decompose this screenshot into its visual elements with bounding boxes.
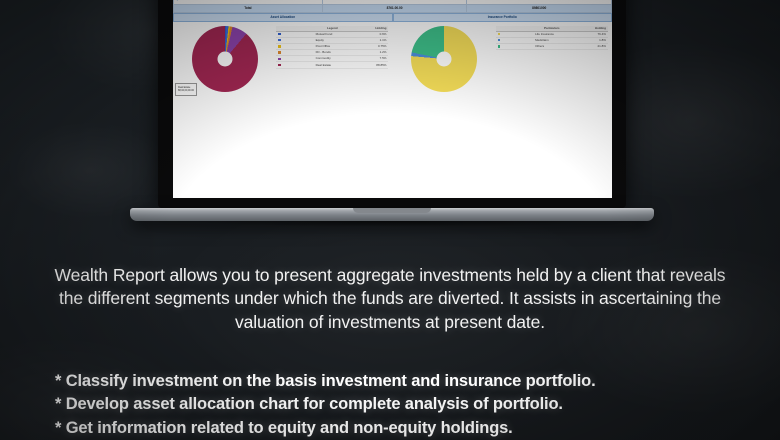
legend-value: 88.85% — [351, 62, 388, 68]
insurance-total-row: Total 8761.00.00 89801000 — [174, 4, 612, 13]
total-label: Total — [174, 4, 323, 13]
insurance-chart: Insurance Portfolio Particulars — [393, 13, 613, 91]
chart-legend-right: Particulars Holding Life Insurance76.4% … — [496, 26, 612, 51]
charts-section: Asset Allocation Real Estate 88,02,00,00… — [173, 13, 612, 91]
donut-chart-insurance[interactable] — [411, 26, 477, 92]
legend-label: Real Estate — [314, 62, 351, 68]
cell: 89801000 — [467, 4, 612, 13]
list-item: * Get information related to equity and … — [55, 417, 780, 440]
chart-tooltip: Real Estate 88,02,00,00.00 — [175, 83, 197, 95]
donut-wrap-right — [393, 26, 496, 92]
caption-text: Wealth Report allows you to present aggr… — [0, 264, 780, 334]
insurance-table: Particulars Sum Assured Premium / Year ▶… — [173, 0, 612, 13]
chart-title: Insurance Portfolio — [393, 13, 613, 21]
chart-legend-left: Legend Holding Mutual Fund0.6% Equity1.1… — [276, 26, 392, 69]
laptop-screen: ▶Equity 1780100 1412888 2386.80.00 4.89%… — [173, 0, 612, 198]
row-label: Others — [181, 0, 191, 1]
cell: 8761.00.00 — [322, 4, 467, 13]
donut-wrap-left: Real Estate 88,02,00,00.00 — [173, 26, 276, 92]
legend-value: 21.8% — [571, 43, 608, 49]
laptop-mockup: ▶Equity 1780100 1412888 2386.80.00 4.89%… — [158, 0, 626, 208]
expand-icon[interactable]: ▶ — [177, 0, 179, 1]
donut-chart-asset-allocation[interactable] — [192, 26, 258, 92]
legend-item[interactable]: Real Estate88.85% — [276, 62, 388, 68]
laptop-base — [130, 208, 654, 221]
list-item: * Classify investment on the basis inves… — [55, 370, 780, 393]
laptop-lid: ▶Equity 1780100 1412888 2386.80.00 4.89%… — [158, 0, 626, 208]
legend-item[interactable]: Others21.8% — [496, 43, 608, 49]
wealth-report: ▶Equity 1780100 1412888 2386.80.00 4.89%… — [173, 0, 612, 92]
asset-allocation-chart: Asset Allocation Real Estate 88,02,00,00… — [173, 13, 393, 91]
chart-title: Asset Allocation — [173, 13, 393, 21]
legend-label: Others — [533, 43, 570, 49]
list-item: * Develop asset allocation chart for com… — [55, 393, 780, 416]
feature-bullet-list: * Classify investment on the basis inves… — [0, 370, 780, 440]
laptop-shadow — [118, 221, 666, 237]
